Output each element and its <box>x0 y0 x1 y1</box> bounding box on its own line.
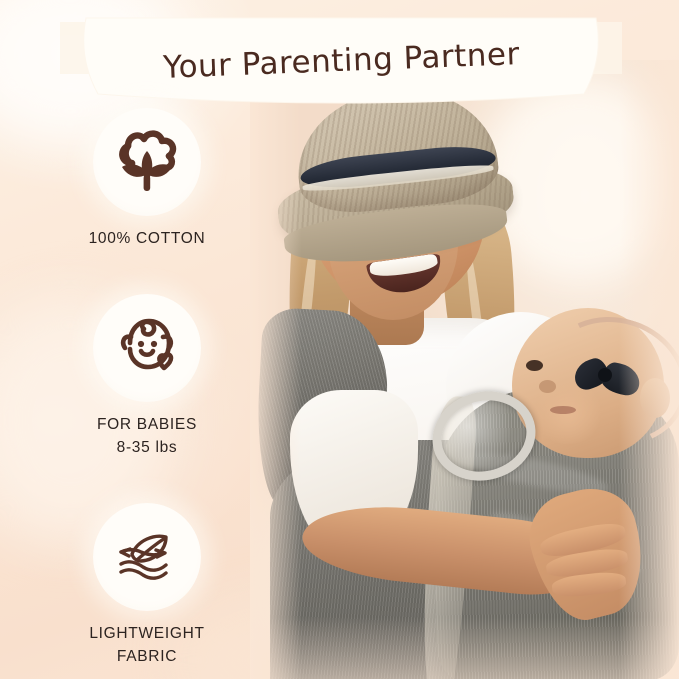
baby-bow-knot <box>598 368 612 382</box>
cotton-boll-icon <box>108 123 186 201</box>
feature-label-cotton: 100% COTTON <box>89 228 206 250</box>
feature-item-cotton: 100% COTTON <box>56 108 238 250</box>
feature-label-line1: 100% COTTON <box>89 230 206 247</box>
headline-title: Your Parenting Partner <box>162 36 520 86</box>
lifestyle-photo <box>250 60 679 679</box>
feature-list: 100% COTTON <box>56 108 238 679</box>
feature-badge <box>93 294 201 402</box>
feature-label-babies: FOR BABIES 8-35 lbs <box>97 414 197 459</box>
feature-label-line2: 8-35 lbs <box>97 437 197 459</box>
headline-banner: Your Parenting Partner <box>56 8 626 108</box>
banner-text-wrap: Your Parenting Partner <box>56 8 626 108</box>
feather-fabric-layers-icon <box>108 518 186 596</box>
product-feature-graphic: Your Parenting Partner <box>0 0 679 679</box>
feature-label-lightweight: LIGHTWEIGHT FABRIC <box>89 623 204 668</box>
feature-item-babies: FOR BABIES 8-35 lbs <box>56 294 238 459</box>
baby-eye <box>526 360 543 371</box>
feature-badge <box>93 503 201 611</box>
feature-item-lightweight: LIGHTWEIGHT FABRIC <box>56 503 238 668</box>
feature-label-line1: LIGHTWEIGHT <box>89 625 204 642</box>
baby-face-icon <box>108 309 186 387</box>
feature-badge <box>93 108 201 216</box>
feature-label-line2: FABRIC <box>89 646 204 668</box>
feature-label-line1: FOR BABIES <box>97 416 197 433</box>
